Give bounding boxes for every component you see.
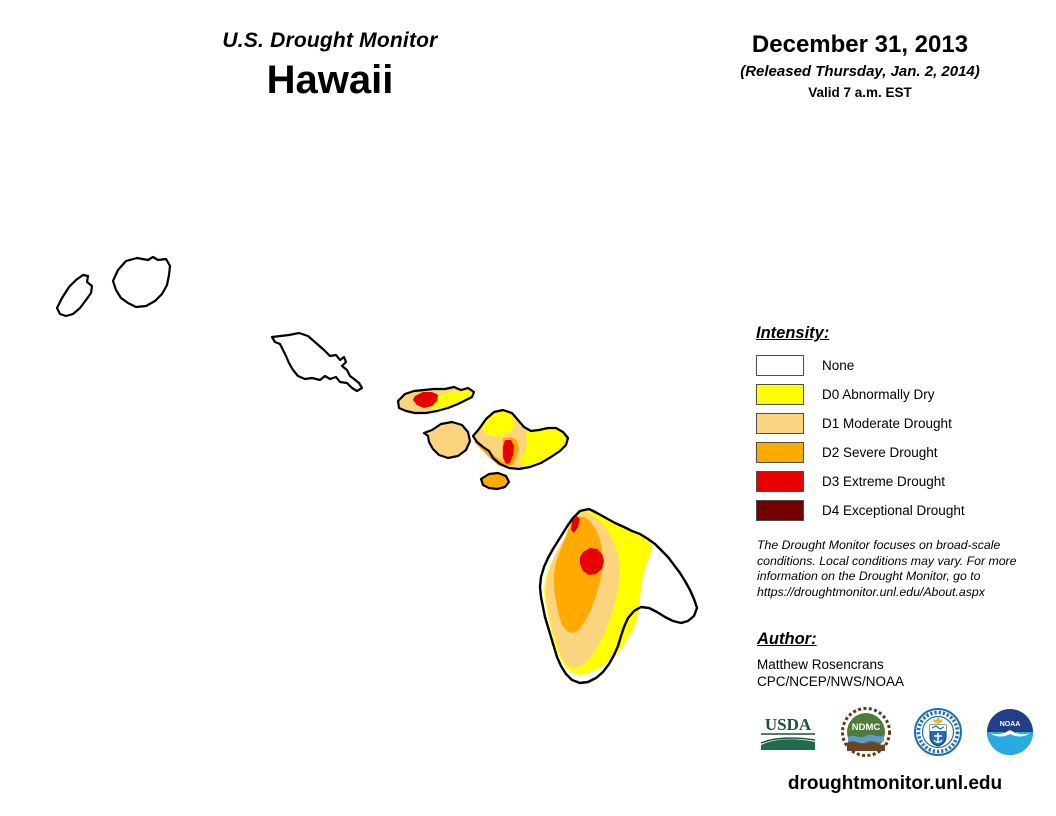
island-maui [473, 410, 568, 469]
svg-text:NDMC: NDMC [852, 722, 881, 733]
header-right: December 31, 2013 (Released Thursday, Ja… [690, 30, 1030, 102]
legend-item-d0: D0 Abnormally Dry [756, 380, 1036, 409]
island-kahoolawe [481, 473, 509, 489]
noaa-logo: NOAA [985, 707, 1035, 762]
state-title: Hawaii [0, 56, 660, 104]
disclaimer-text: The Drought Monitor focuses on broad-sca… [757, 538, 1025, 600]
usda-logo: USDA [757, 712, 819, 757]
legend-swatch-d2 [756, 442, 804, 463]
island-oahu [272, 333, 362, 391]
footer-url: droughtmonitor.unl.edu [740, 772, 1050, 796]
legend-swatch-d0 [756, 384, 804, 405]
intensity-legend: Intensity: None D0 Abnormally Dry D1 Mod… [756, 322, 1036, 525]
legend-label-d2: D2 Severe Drought [822, 444, 938, 462]
author-affiliation: CPC/NCEP/NWS/NOAA [757, 673, 1037, 690]
legend-label-d4: D4 Exceptional Drought [822, 502, 965, 520]
legend-label-d0: D0 Abnormally Dry [822, 386, 935, 404]
legend-item-d4: D4 Exceptional Drought [756, 496, 1036, 525]
island-hawaii-big-island [540, 509, 697, 683]
author-block: Author: Matthew Rosencrans CPC/NCEP/NWS/… [757, 628, 1037, 690]
header-left: U.S. Drought Monitor Hawaii [0, 28, 660, 104]
legend-swatch-d4 [756, 500, 804, 521]
author-heading: Author: [757, 628, 1037, 650]
island-kauai [113, 257, 170, 307]
legend-item-d2: D2 Severe Drought [756, 438, 1036, 467]
ndmc-logo: NDMC [841, 707, 891, 762]
map-date: December 31, 2013 [690, 30, 1030, 60]
author-name: Matthew Rosencrans [757, 656, 1037, 673]
unl-logo [913, 707, 963, 762]
svg-text:NOAA: NOAA [1000, 721, 1021, 728]
drought-monitor-title: U.S. Drought Monitor [0, 28, 660, 54]
legend-item-d1: D1 Moderate Drought [756, 409, 1036, 438]
hawaii-drought-map [0, 120, 740, 740]
legend-swatch-d1 [756, 413, 804, 434]
released-date: (Released Thursday, Jan. 2, 2014) [690, 62, 1030, 82]
agency-logos: USDA NDMC [757, 704, 1035, 764]
legend-swatch-none [756, 355, 804, 376]
legend-heading: Intensity: [756, 322, 1036, 344]
legend-label-none: None [822, 357, 854, 375]
legend-label-d3: D3 Extreme Drought [822, 473, 945, 491]
island-molokai [398, 387, 474, 413]
svg-text:USDA: USDA [765, 715, 812, 734]
legend-item-none: None [756, 351, 1036, 380]
legend-label-d1: D1 Moderate Drought [822, 415, 952, 433]
island-niihau [57, 275, 92, 316]
valid-time: Valid 7 a.m. EST [690, 84, 1030, 102]
legend-swatch-d3 [756, 471, 804, 492]
legend-item-d3: D3 Extreme Drought [756, 467, 1036, 496]
island-lanai [424, 422, 470, 458]
